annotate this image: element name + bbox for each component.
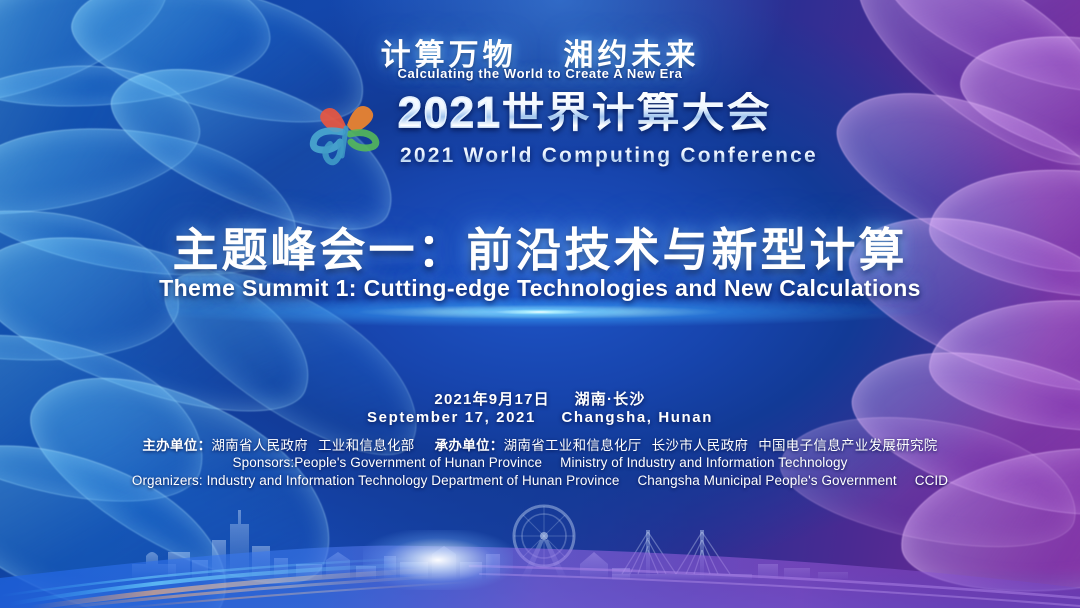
sponsors-english: Sponsors:People's Government of Hunan Pr… <box>0 455 1080 470</box>
organizers-en-1: Organizers: Industry and Information Tec… <box>132 473 620 488</box>
organizers-english: Organizers: Industry and Information Tec… <box>0 473 1080 488</box>
host-1-cn: 湖南省人民政府 <box>211 438 308 453</box>
conference-poster: 计算万物 湘约未来 Calculating the World to Creat… <box>0 0 1080 608</box>
organizer-label-cn: 承办单位： <box>435 438 504 453</box>
event-date-english: September 17, 2021 Changsha, Hunan <box>0 409 1080 426</box>
theme-title-chinese: 主题峰会一：前沿技术与新型计算 <box>0 214 1080 280</box>
event-date-chinese: 2021年9月17日 湖南·长沙 <box>0 388 1080 409</box>
conference-year: 2021 <box>398 89 502 137</box>
conference-title-cn-text: 世界计算大会 <box>502 89 772 137</box>
host-label-cn: 主办单位： <box>142 438 211 453</box>
sponsors-en-2: Ministry of Industry and Information Tec… <box>560 455 847 470</box>
organizer-1-cn: 湖南省工业和信息化厅 <box>504 438 642 453</box>
poster-content: 计算万物 湘约未来 Calculating the World to Creat… <box>0 0 1080 608</box>
conference-title-english: 2021 World Computing Conference <box>400 144 818 168</box>
theme-title-english: Theme Summit 1: Cutting-edge Technologie… <box>0 275 1080 302</box>
brand-block: 2021世界计算大会 2021 World Computing Conferen… <box>0 92 1080 172</box>
conference-title-chinese: 2021世界计算大会 <box>398 92 772 135</box>
slogan-english: Calculating the World to Create A New Er… <box>0 66 1080 81</box>
credits-chinese: 主办单位：湖南省人民政府工业和信息化部承办单位：湖南省工业和信息化厅长沙市人民政… <box>0 434 1080 454</box>
event-location-cn: 湖南·长沙 <box>575 391 646 408</box>
butterfly-flower-logo <box>306 94 384 166</box>
organizer-3-cn: 中国电子信息产业发展研究院 <box>758 438 937 453</box>
host-2-cn: 工业和信息化部 <box>318 438 415 453</box>
organizers-en-3: CCID <box>915 473 948 488</box>
organizer-2-cn: 长沙市人民政府 <box>652 438 749 453</box>
event-location-en: Changsha, Hunan <box>561 409 713 426</box>
event-date-cn-text: 2021年9月17日 <box>434 391 549 408</box>
sponsors-en-1: Sponsors:People's Government of Hunan Pr… <box>233 455 543 470</box>
event-date-en-text: September 17, 2021 <box>367 409 536 426</box>
organizers-en-2: Changsha Municipal People's Government <box>637 473 896 488</box>
